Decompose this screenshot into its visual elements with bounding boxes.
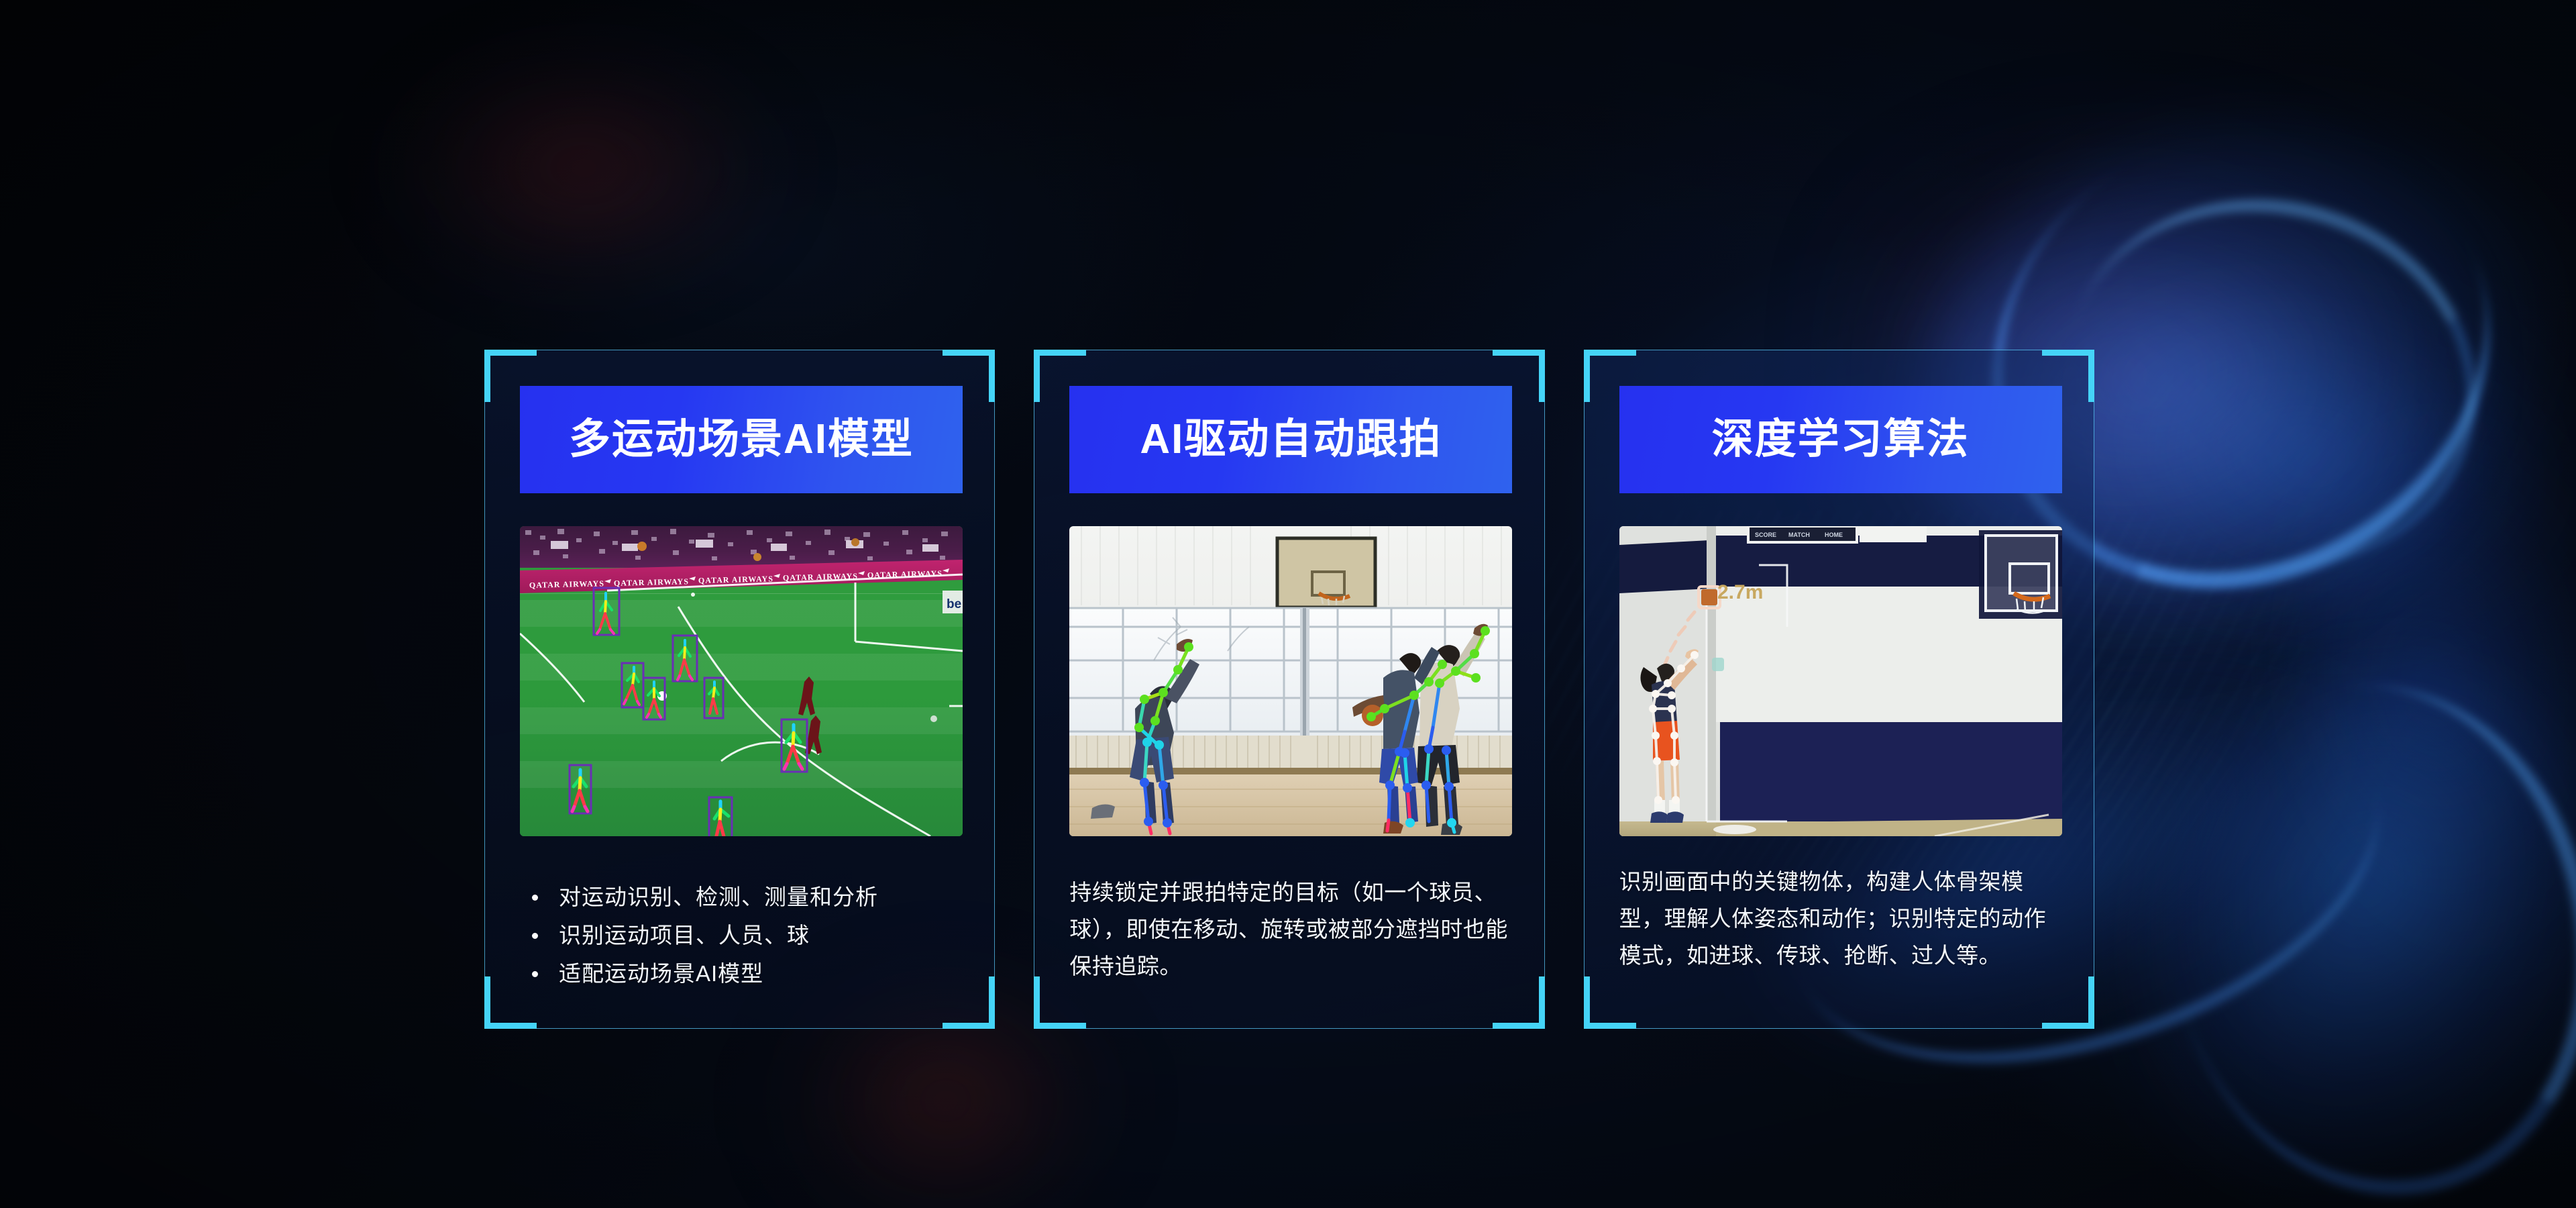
corner-bracket-bottom-right (2042, 976, 2094, 1029)
card-body: 识别画面中的关键物体，构建人体骨架模型，理解人体姿态和动作；识别特定的动作模式，… (1619, 863, 2064, 974)
list-item: 适配运动场景AI模型 (520, 954, 965, 993)
svg-text:SCORE: SCORE (1755, 532, 1776, 538)
card-title-banner: 深度学习算法 (1619, 386, 2062, 493)
card-title-banner: 多运动场景AI模型 (520, 386, 963, 493)
card-body: 持续锁定并跟拍特定的目标（如一个球员、球），即使在移动、旋转或被部分遮挡时也能保… (1069, 874, 1514, 985)
feature-bullet-list: 对运动识别、检测、测量和分析 识别运动项目、人员、球 适配运动场景AI模型 (520, 878, 965, 993)
shot-measure-image: SCOREMATCHHOME (1619, 526, 2062, 836)
card-description: 识别画面中的关键物体，构建人体骨架模型，理解人体姿态和动作；识别特定的动作模式，… (1619, 863, 2064, 974)
card-title: AI驱动自动跟拍 (1140, 419, 1442, 460)
soccer-pitch-detection-thumbnail[interactable]: QATAR AIRWAYS QATAR AIRWAYS QATAR AIRWAY… (520, 526, 963, 836)
feature-card-multi-sport-ai-model[interactable]: 多运动场景AI模型 (484, 350, 995, 1029)
feature-card-deep-learning-algorithm[interactable]: 深度学习算法 (1584, 350, 2094, 1029)
shot-height-measure-thumbnail[interactable]: SCOREMATCHHOME (1619, 526, 2062, 836)
height-annotation-label: 2.7m (1717, 581, 1763, 603)
gym-basketball-image (1069, 526, 1512, 836)
gym-basketball-pose-thumbnail[interactable] (1069, 526, 1512, 836)
list-item: 对运动识别、检测、测量和分析 (520, 878, 965, 916)
corner-bracket-bottom-left (1584, 976, 1636, 1029)
card-description: 持续锁定并跟拍特定的目标（如一个球员、球），即使在移动、旋转或被部分遮挡时也能保… (1069, 874, 1514, 985)
list-item: 识别运动项目、人员、球 (520, 916, 965, 954)
svg-text:be: be (947, 597, 961, 611)
card-title: 深度学习算法 (1712, 419, 1970, 460)
feature-card-row: 多运动场景AI模型 (484, 350, 2094, 1029)
svg-text:QATAR AIRWAYS: QATAR AIRWAYS (614, 576, 689, 588)
card-title: 多运动场景AI模型 (569, 419, 914, 460)
feature-card-ai-auto-tracking[interactable]: AI驱动自动跟拍 (1034, 350, 1544, 1029)
card-body: 对运动识别、检测、测量和分析 识别运动项目、人员、球 适配运动场景AI模型 (520, 878, 965, 993)
card-title-banner: AI驱动自动跟拍 (1069, 386, 1512, 493)
soccer-pitch-image: QATAR AIRWAYS QATAR AIRWAYS QATAR AIRWAY… (520, 526, 963, 836)
svg-text:MATCH: MATCH (1788, 532, 1810, 538)
svg-text:HOME: HOME (1825, 532, 1843, 538)
